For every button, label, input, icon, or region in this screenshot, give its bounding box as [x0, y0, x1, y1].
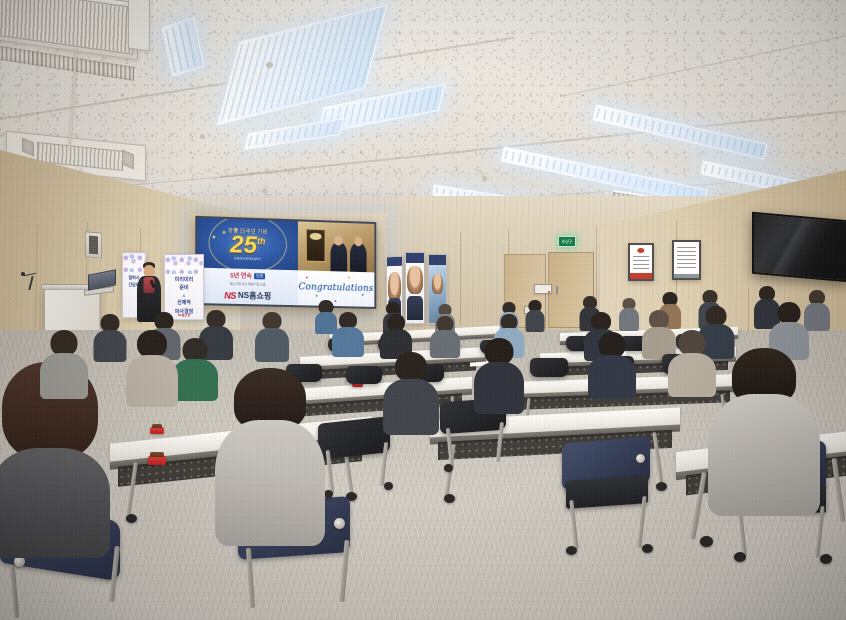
- chair-back: [346, 366, 382, 384]
- audience-member: [258, 312, 286, 358]
- sprinkler-head: [262, 188, 267, 192]
- audience-member: [382, 314, 410, 356]
- audience-member: [526, 300, 544, 330]
- sprinkler-head: [482, 176, 487, 180]
- chair-caster: [566, 546, 577, 555]
- wall-panel-seam: [460, 232, 461, 324]
- slide-award-photo: [298, 221, 375, 272]
- slide-brand-block: 5년 연속 인증 중소기업 우수 물류기업 인증 NS NS홈쇼핑: [197, 267, 297, 305]
- brand-name: NS홈쇼핑: [238, 290, 271, 302]
- award-recipient-right: [350, 243, 367, 271]
- rollup-portrait: [432, 274, 442, 294]
- slide-content: ★ ★ ★ 창립 25주년 기념 25th ANNIVERSARY 5년 연속: [197, 218, 374, 307]
- star-icon: ★: [212, 235, 217, 241]
- head: [778, 302, 801, 324]
- chair-seat[interactable]: [566, 475, 648, 509]
- torso: [40, 353, 88, 399]
- award-plaque: [305, 228, 325, 262]
- audience-member-foreground: [224, 368, 316, 540]
- chair-caster: [820, 554, 832, 564]
- red-packet-item[interactable]: [148, 456, 166, 465]
- microphone-head: [21, 272, 25, 276]
- wall-control-panel[interactable]: [534, 284, 552, 294]
- streak-note: 중소기업 우수 물류기업 인증: [230, 282, 266, 287]
- sprinkler-head: [200, 134, 205, 138]
- audience-member: [592, 332, 632, 394]
- banner-line-2: 준비: [179, 285, 188, 291]
- audience-member: [176, 338, 214, 398]
- torso: [215, 420, 325, 546]
- head: [706, 306, 727, 326]
- chair-caster: [734, 552, 746, 562]
- award-recipient-left: [330, 243, 347, 272]
- chair-pivot-knob: [636, 454, 645, 463]
- torso: [804, 303, 830, 331]
- audience-member: [432, 316, 458, 356]
- audience-member: [388, 352, 434, 432]
- audience-member: [334, 312, 362, 354]
- chair-caster: [444, 464, 453, 472]
- torso: [526, 310, 545, 332]
- audience-member: [316, 300, 336, 332]
- brand-mark: NS: [224, 290, 236, 300]
- rollup-header: [429, 255, 446, 265]
- torso: [383, 379, 439, 435]
- audience-member: [130, 330, 174, 404]
- star-icon: ★: [234, 227, 239, 233]
- projection-screen: ★ ★ ★ 창립 25주년 기념 25th ANNIVERSARY 5년 연속: [195, 216, 376, 309]
- chair-pivot-knob: [334, 518, 345, 529]
- wall-poster-gray: [672, 240, 701, 280]
- wall-poster-red: [628, 243, 654, 281]
- stacking-chair[interactable]: [346, 366, 382, 384]
- torso: [588, 355, 636, 399]
- poster-text-lines: [633, 256, 650, 272]
- confetti-dot: [305, 277, 307, 279]
- torso: [126, 355, 178, 407]
- seminar-room-photo: ★ ★ ★ 창립 25주년 기념 25th ANNIVERSARY 5년 연속: [0, 0, 846, 620]
- banner-line-3: 선제적: [177, 300, 191, 306]
- congratulations-text: Congratulations: [298, 283, 373, 295]
- torso: [94, 330, 127, 362]
- streak-badge: 인증: [254, 273, 265, 279]
- table-caster: [444, 494, 455, 503]
- wall-mounted-speaker: [85, 231, 102, 258]
- rollup-header: [406, 253, 424, 263]
- banner-pattern: [165, 255, 203, 274]
- poster-bottom-band: [630, 273, 652, 279]
- torso: [0, 448, 110, 558]
- audience-member: [644, 310, 674, 356]
- rollup-portrait: [407, 266, 422, 294]
- confetti-dot: [348, 277, 350, 279]
- chair-caster: [384, 482, 393, 490]
- audience-member: [620, 298, 638, 330]
- audience-member: [806, 290, 828, 330]
- poster-bottom-band: [674, 274, 699, 278]
- slide-anniversary-emblem: ★ ★ ★ 창립 25주년 기념 25th ANNIVERSARY: [197, 218, 297, 270]
- head: [395, 352, 427, 382]
- poster-seal: [637, 248, 644, 253]
- brand-lockup: NS NS홈쇼핑: [224, 290, 271, 302]
- audience-member: [44, 330, 84, 396]
- torso: [708, 394, 820, 516]
- banner-line-1: 미리미리: [175, 277, 193, 283]
- emblem-ring: [208, 218, 286, 270]
- wall-mounted-tv[interactable]: [752, 212, 846, 282]
- exit-sign-label: 비상구: [562, 239, 572, 245]
- chair-caster: [324, 490, 333, 498]
- banner-message: 미리미리 준비 & 선제적 의사결정: [165, 277, 203, 315]
- confetti-dot: [316, 295, 318, 297]
- audience-member: [96, 314, 124, 358]
- smoke-detector: [266, 62, 273, 67]
- red-packet-item[interactable]: [150, 427, 164, 434]
- chair-back: [530, 358, 568, 377]
- stacking-chair[interactable]: [530, 358, 568, 377]
- table-caster: [700, 536, 713, 547]
- status-led: [548, 291, 550, 293]
- torso: [172, 359, 218, 401]
- torso: [619, 308, 639, 331]
- banner-ampersand: &: [183, 293, 186, 298]
- emergency-exit-sign: 비상구: [558, 236, 576, 247]
- torso: [430, 330, 460, 358]
- chair-caster: [642, 544, 653, 553]
- table-caster: [126, 514, 137, 523]
- rollup-header: [387, 257, 402, 267]
- torso: [255, 328, 289, 362]
- tv-screen-glare: [754, 214, 846, 280]
- star-icon: ★: [222, 230, 227, 236]
- torso: [668, 353, 716, 397]
- poster-text-lines: [677, 247, 696, 271]
- torso: [332, 327, 364, 357]
- audience-member: [478, 338, 520, 412]
- audience-member: [672, 330, 712, 392]
- torso: [474, 362, 524, 414]
- standing-banner-left: 미리미리 준비 & 선제적 의사결정 NS홈쇼핑: [164, 254, 204, 320]
- audience-member-foreground: [716, 348, 812, 518]
- head: [485, 338, 514, 365]
- door-handle[interactable]: [556, 286, 558, 295]
- table-caster: [656, 482, 667, 491]
- hvac-ceiling-cassette: [128, 0, 150, 52]
- streak-label: 5년 연속: [230, 271, 252, 281]
- head: [137, 330, 167, 358]
- certification-streak: 5년 연속 인증: [230, 271, 265, 281]
